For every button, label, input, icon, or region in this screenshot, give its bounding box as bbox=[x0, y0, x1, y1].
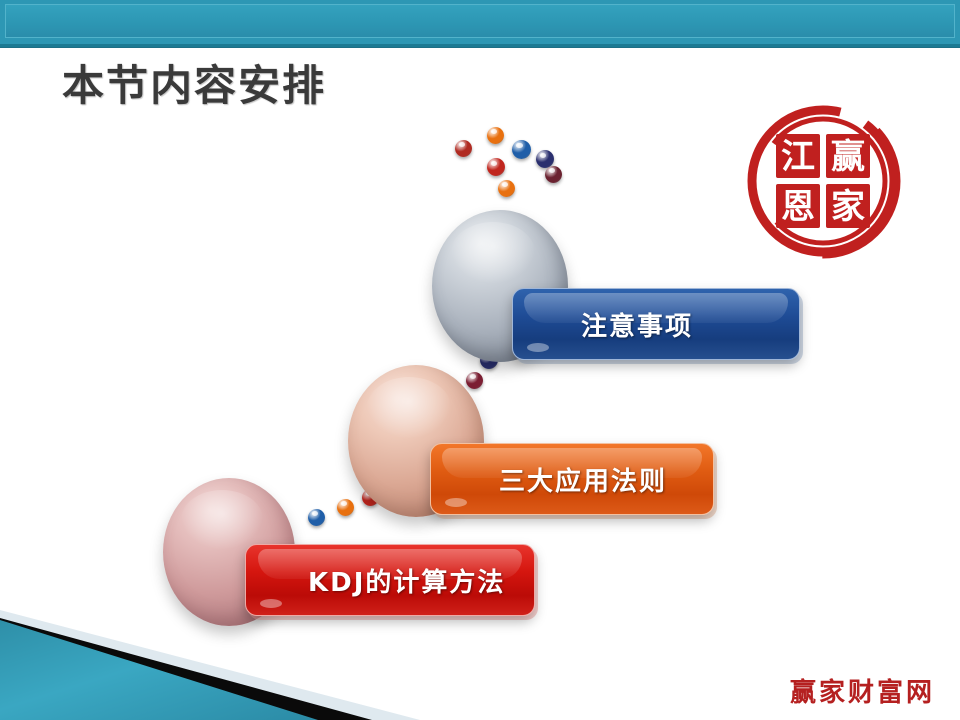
seal-char-2: 赢 bbox=[831, 137, 865, 177]
item-label-rules: 三大应用法则 bbox=[499, 461, 667, 498]
corner-decor-svg bbox=[0, 598, 420, 720]
decorative-bead bbox=[545, 166, 562, 183]
page-title: 本节内容安排 bbox=[62, 52, 326, 113]
seal-char-4: 家 bbox=[831, 187, 865, 227]
decorative-bead bbox=[308, 509, 325, 526]
decorative-bead bbox=[466, 372, 483, 389]
item-plate-rules[interactable]: 三大应用法则 bbox=[430, 443, 714, 515]
seal-svg: 江 赢 恩 家 bbox=[742, 100, 904, 262]
item-label-kdj: KDJ的计算方法 bbox=[308, 562, 505, 599]
header-bar-hairline bbox=[0, 44, 960, 47]
seal-char-1: 江 bbox=[781, 137, 815, 177]
header-bar-inner bbox=[5, 4, 955, 38]
decorative-bead bbox=[455, 140, 472, 157]
decorative-bead bbox=[498, 180, 515, 197]
decorative-bead bbox=[512, 140, 531, 159]
item-plate-notes[interactable]: 注意事项 bbox=[512, 288, 800, 360]
decorative-bead bbox=[487, 158, 505, 176]
company-seal-logo: 江 赢 恩 家 bbox=[742, 100, 904, 262]
header-bar bbox=[0, 0, 960, 48]
site-watermark: 赢家财富网 bbox=[790, 672, 935, 709]
item-label-notes: 注意事项 bbox=[581, 306, 693, 343]
corner-decoration bbox=[0, 598, 420, 720]
slide-canvas: 本节内容安排 江 赢 恩 家 KDJ的计算方法 三大应用法则 bbox=[0, 0, 960, 720]
decorative-bead bbox=[337, 499, 354, 516]
decorative-bead bbox=[487, 127, 504, 144]
seal-char-3: 恩 bbox=[781, 187, 815, 227]
